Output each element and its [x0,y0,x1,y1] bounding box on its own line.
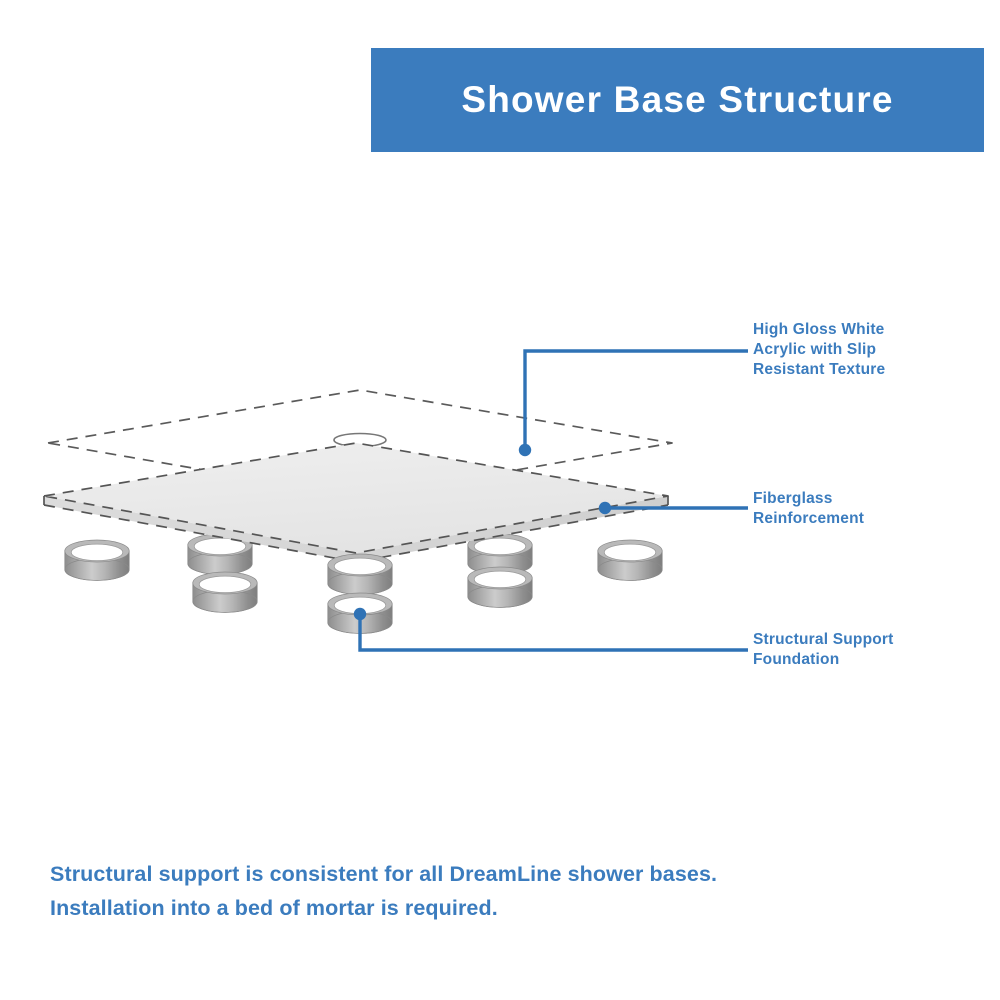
diagram-canvas: Shower Base Structure [0,0,1000,1000]
footer-caption: Structural support is consistent for all… [50,857,750,925]
leader-anchor-dot [599,502,611,514]
support-cylinder [193,572,257,612]
leader-line-acrylic [519,351,748,456]
support-cylinder [65,540,129,580]
support-cylinder [328,554,392,594]
callout-label-support: Structural Support Foundation [753,630,983,670]
support-cylinder [468,567,532,607]
support-cylinder [598,540,662,580]
callout-label-acrylic: High Gloss White Acrylic with Slip Resis… [753,320,983,380]
leader-anchor-dot [519,444,531,456]
fiberglass-slab [44,443,668,562]
callout-label-fiberglass: Fiberglass Reinforcement [753,489,983,529]
leader-line-support [354,608,748,650]
leader-anchor-dot [354,608,366,620]
